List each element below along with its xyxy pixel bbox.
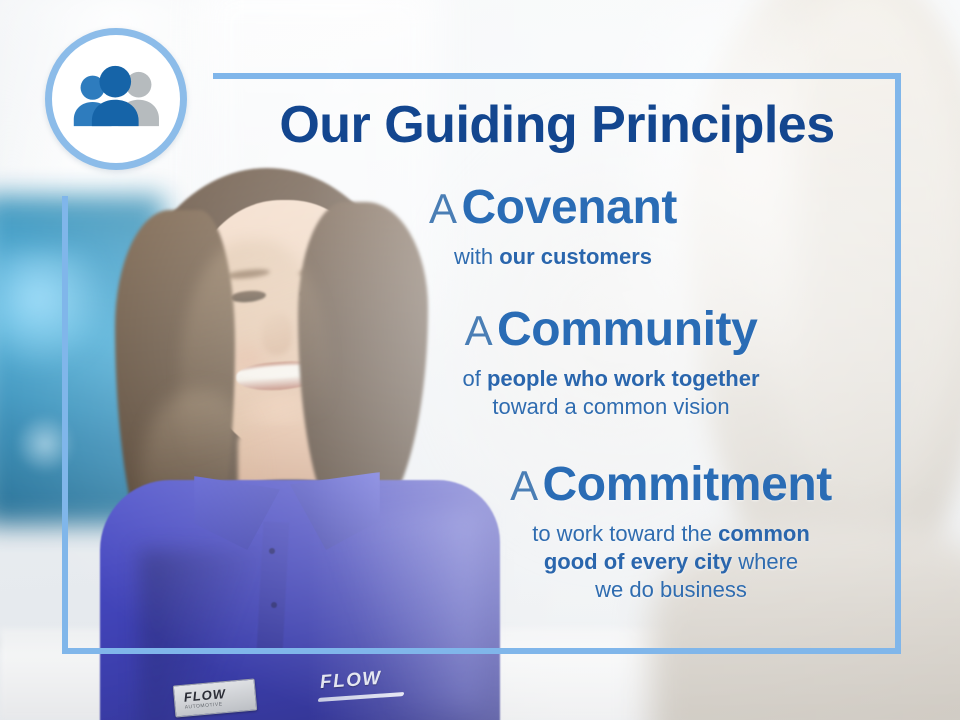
page-title: Our Guiding Principles	[213, 96, 901, 154]
principle-covenant-word: Covenant	[461, 181, 677, 234]
principle-commitment-word: Commitment	[543, 458, 832, 511]
principle-community-article: A	[465, 307, 493, 354]
principle-covenant-title: A Covenant	[253, 183, 853, 233]
principle-covenant: A Covenant with our customers	[253, 183, 853, 271]
text-content: Our Guiding Principles A Covenant with o…	[0, 0, 960, 720]
guiding-principles-banner: FLOW AUTOMOTIVE FLOW	[0, 0, 960, 720]
principle-community: A Community of people who work togethert…	[301, 305, 921, 421]
principle-commitment: A Commitment to work toward the commongo…	[361, 460, 960, 604]
principle-community-title: A Community	[301, 305, 921, 355]
principle-commitment-title: A Commitment	[361, 460, 960, 510]
principle-covenant-subtext: with our customers	[253, 243, 853, 271]
principle-covenant-article: A	[429, 185, 457, 232]
principle-commitment-article: A	[510, 462, 538, 509]
principle-community-subtext: of people who work togethertoward a comm…	[301, 365, 921, 421]
principle-commitment-subtext: to work toward the commongood of every c…	[361, 520, 960, 604]
principle-community-word: Community	[497, 303, 757, 356]
